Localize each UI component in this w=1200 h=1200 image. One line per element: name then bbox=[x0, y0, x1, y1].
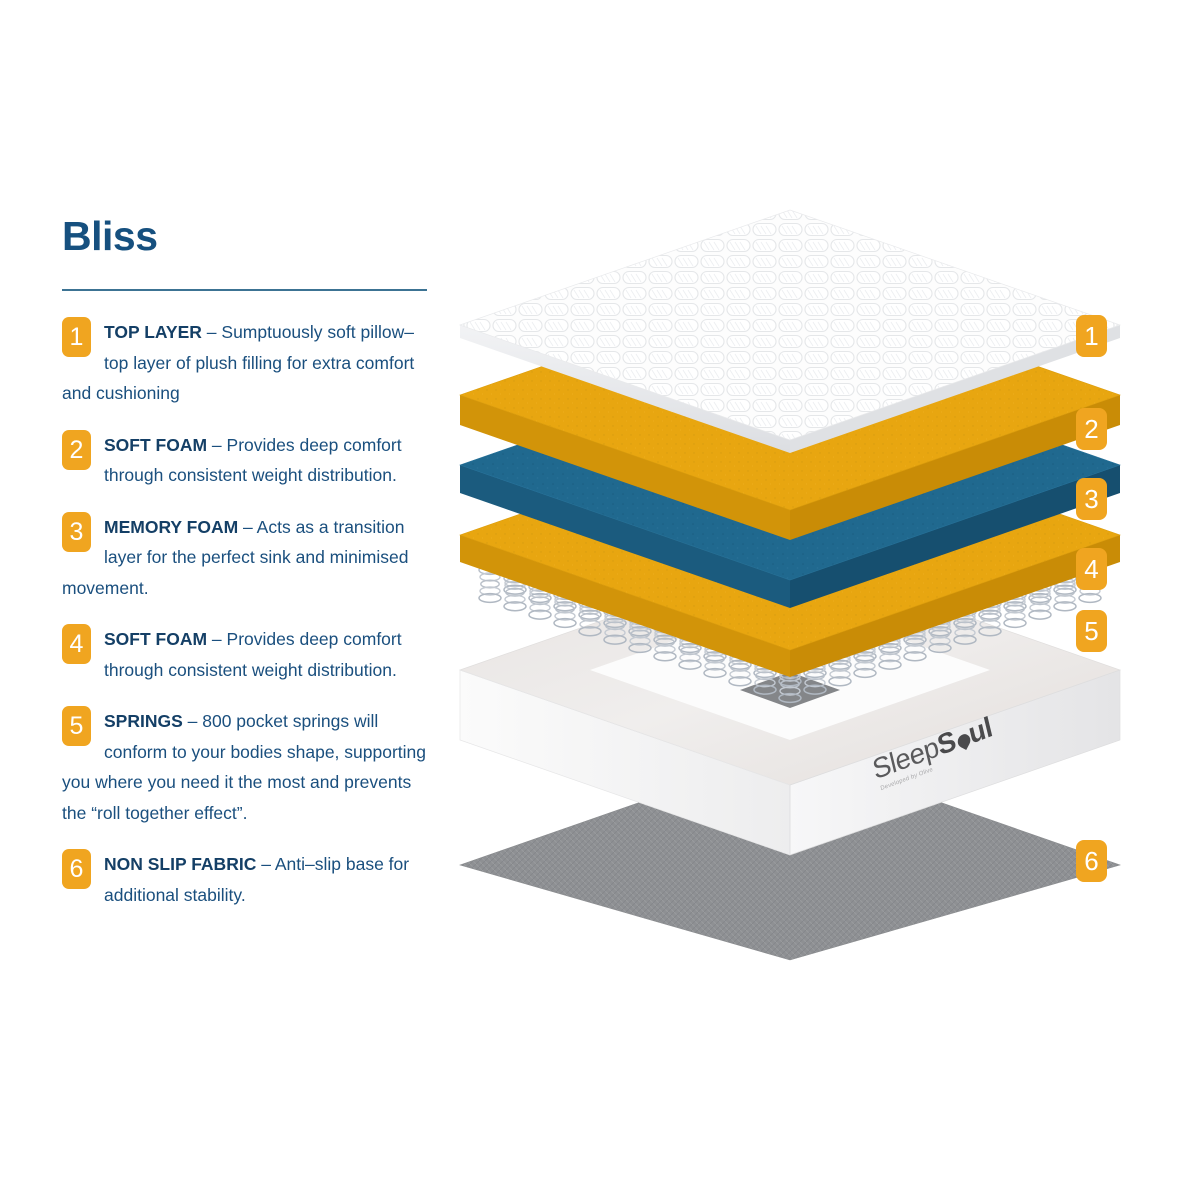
layer-description-list: 1 TOP LAYER – Sumptuously soft pillow–to… bbox=[62, 317, 434, 910]
list-item: 5 SPRINGS – 800 pocket springs will conf… bbox=[62, 706, 434, 828]
list-item: 2 SOFT FOAM – Provides deep comfort thro… bbox=[62, 430, 434, 491]
list-item: 6 NON SLIP FABRIC – Anti–slip base for a… bbox=[62, 849, 434, 910]
diagram-badge-3: 3 bbox=[1076, 478, 1107, 520]
layer-number-badge-4: 4 bbox=[62, 624, 91, 664]
layer-number-badge-3: 3 bbox=[62, 512, 91, 552]
layer-dash-2: – bbox=[207, 435, 226, 455]
page-title: Bliss bbox=[62, 216, 434, 257]
layer-number-badge-2: 2 bbox=[62, 430, 91, 470]
mattress-exploded-diagram: SleepSul Developed by Olive 1 2 3 4 5 6 bbox=[440, 270, 1160, 950]
layer-number-badge-6: 6 bbox=[62, 849, 91, 889]
diagram-badge-1: 1 bbox=[1076, 315, 1107, 357]
diagram-badge-4: 4 bbox=[1076, 548, 1107, 590]
layer-name-2: SOFT FOAM bbox=[104, 435, 207, 455]
layer-dash-1: – bbox=[202, 322, 221, 342]
list-item: 3 MEMORY FOAM – Acts as a transition lay… bbox=[62, 512, 434, 604]
layer-description-1: TOP LAYER – Sumptuously soft pillow–top … bbox=[62, 317, 434, 409]
layer-dash-4: – bbox=[207, 629, 226, 649]
diagram-badge-2: 2 bbox=[1076, 408, 1107, 450]
layer-number-badge-5: 5 bbox=[62, 706, 91, 746]
layer-dash-5: – bbox=[183, 711, 202, 731]
layer-description-5: SPRINGS – 800 pocket springs will confor… bbox=[62, 706, 434, 828]
layer-description-2: SOFT FOAM – Provides deep comfort throug… bbox=[62, 430, 434, 491]
layer-description-4: SOFT FOAM – Provides deep comfort throug… bbox=[62, 624, 434, 685]
layer-name-3: MEMORY FOAM bbox=[104, 517, 238, 537]
layer-name-5: SPRINGS bbox=[104, 711, 183, 731]
layer-name-6: NON SLIP FABRIC bbox=[104, 854, 256, 874]
product-info-panel: Bliss 1 TOP LAYER – Sumptuously soft pil… bbox=[62, 216, 434, 910]
list-item: 1 TOP LAYER – Sumptuously soft pillow–to… bbox=[62, 317, 434, 409]
diagram-badge-6: 6 bbox=[1076, 840, 1107, 882]
list-item: 4 SOFT FOAM – Provides deep comfort thro… bbox=[62, 624, 434, 685]
layer-description-3: MEMORY FOAM – Acts as a transition layer… bbox=[62, 512, 434, 604]
layer-name-4: SOFT FOAM bbox=[104, 629, 207, 649]
layer-dash-3: – bbox=[238, 517, 257, 537]
title-divider bbox=[62, 289, 427, 291]
diagram-badge-5: 5 bbox=[1076, 610, 1107, 652]
layer-dash-6: – bbox=[256, 854, 275, 874]
layer-name-1: TOP LAYER bbox=[104, 322, 202, 342]
layer-number-badge-1: 1 bbox=[62, 317, 91, 357]
layer-description-6: NON SLIP FABRIC – Anti–slip base for add… bbox=[62, 849, 434, 910]
mattress-layers-svg bbox=[440, 270, 1160, 960]
